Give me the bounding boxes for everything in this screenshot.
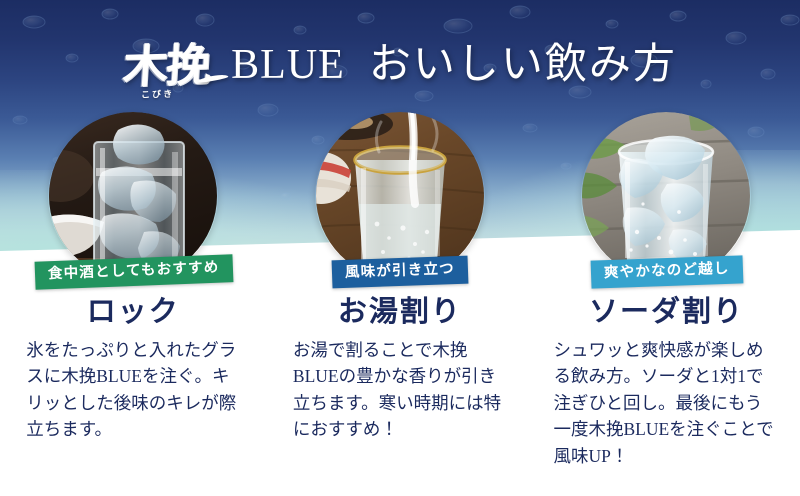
photo-soda <box>581 112 751 280</box>
kobiki-brush-logo: 木挽 こびき <box>122 41 219 88</box>
card-soda: 爽やかなのど越し ソーダ割り シュワッと爽快感が楽しめる飲み方。ソーダと1対1で… <box>533 112 800 470</box>
card-oyuwari: 風味が引き立つ お湯割り お湯で割ることで木挽BLUEの豊かな香りが引き立ちます… <box>267 112 534 470</box>
card-title-rock: ロック <box>87 297 180 326</box>
poster-root: 木挽 こびき BLUE おいしい飲み方 <box>0 0 800 496</box>
badge-rock: 食中酒としてもおすすめ <box>34 254 232 289</box>
card-title-soda: ソーダ割り <box>589 297 744 326</box>
card-rock: 食中酒としてもおすすめ ロック 氷をたっぷりと入れたグラスに木挽BLUEを注ぐ。… <box>0 112 267 470</box>
card-body-rock: 氷をたっぷりと入れたグラスに木挽BLUEを注ぐ。キリッとした後味のキレが際立ちま… <box>26 337 240 443</box>
card-title-oyuwari: お湯割り <box>338 297 462 326</box>
page-title: おいしい飲み方 <box>369 44 677 86</box>
card-body-soda: シュワッと爽快感が楽しめる飲み方。ソーダと1対1で注ぎひと回し。最後にもう一度木… <box>553 337 779 470</box>
logo-blue-word: BLUE <box>231 44 345 86</box>
badge-oyuwari: 風味が引き立つ <box>331 256 468 288</box>
card-body-oyuwari: お湯で割ることで木挽BLUEの豊かな香りが引き立ちます。寒い時期には特におすすめ… <box>293 337 507 443</box>
logo-furigana: こびき <box>141 90 174 100</box>
drink-method-cards: 食中酒としてもおすすめ ロック 氷をたっぷりと入れたグラスに木挽BLUEを注ぐ。… <box>0 112 800 470</box>
poster-header: 木挽 こびき BLUE おいしい飲み方 <box>0 34 800 96</box>
badge-soda: 爽やかなのど越し <box>590 255 742 288</box>
photo-oyuwari <box>315 112 485 280</box>
logo-kanji: 木挽 <box>121 37 210 92</box>
